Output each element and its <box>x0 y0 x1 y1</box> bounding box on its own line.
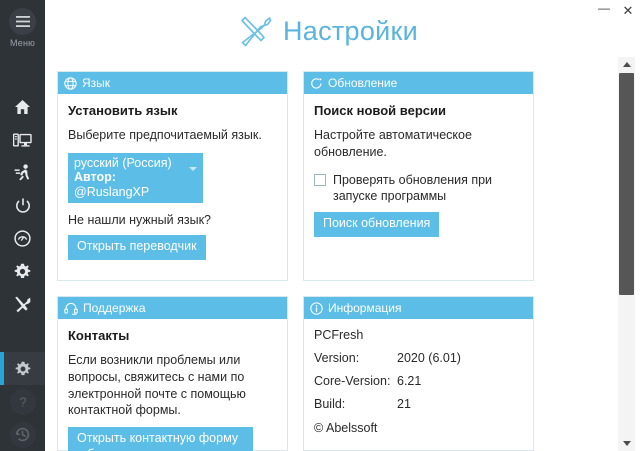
active-indicator <box>0 222 4 255</box>
app-window: Меню <box>0 0 640 451</box>
triangle-up-icon <box>623 62 631 67</box>
info-key: Build: <box>314 397 397 411</box>
product-name: PCFresh <box>314 328 523 342</box>
sidebar-item-computer[interactable] <box>0 123 45 156</box>
language-select[interactable]: русский (Россия) Автор: @RuslangXP <box>68 153 203 203</box>
sidebar-menu-label: Меню <box>10 38 35 48</box>
card-update-header-label: Обновление <box>328 77 397 89</box>
svg-text:?: ? <box>19 394 26 409</box>
scroll-down-button[interactable] <box>618 436 635 451</box>
scrollbar-thumb[interactable] <box>619 73 634 295</box>
card-support-header: Поддержка <box>58 297 287 319</box>
page-header: Настройки <box>45 0 612 62</box>
info-icon <box>310 302 323 315</box>
card-info-body: PCFresh Version: 2020 (6.01) Core-Versio… <box>304 319 533 445</box>
triangle-down-icon <box>623 441 631 446</box>
sidebar-item-settings[interactable] <box>0 352 45 385</box>
card-update-title: Поиск новой версии <box>314 103 523 118</box>
open-contact-form-button[interactable]: Открыть контактную форму в браузере <box>68 427 253 451</box>
info-row-core-version: Core-Version: 6.21 <box>314 374 523 388</box>
card-update-header: Обновление <box>304 72 533 94</box>
vertical-scrollbar[interactable] <box>612 57 640 451</box>
active-indicator <box>0 255 4 288</box>
check-updates-button[interactable]: Поиск обновления <box>314 212 439 237</box>
gauge-icon <box>14 230 31 247</box>
question-icon-glyph: ? <box>15 394 31 410</box>
tools-icon <box>14 296 32 313</box>
active-indicator <box>0 352 4 385</box>
open-translator-button[interactable]: Открыть переводчик <box>68 235 206 260</box>
card-info-header: Информация <box>304 297 533 319</box>
card-support: Поддержка Контакты Если возникли проблем… <box>57 296 288 451</box>
card-info: Информация PCFresh Version: 2020 (6.01) … <box>303 296 534 451</box>
info-value: 6.21 <box>397 374 421 388</box>
sidebar-bottom-nav: ? <box>0 352 45 451</box>
language-select-author-label: Автор: <box>74 170 116 184</box>
info-value: 2020 (6.01) <box>397 351 461 365</box>
language-question: Не нашли нужный язык? <box>68 213 277 227</box>
sidebar-item-utilities[interactable] <box>0 288 45 321</box>
language-select-author-value: @RuslangXP <box>74 185 149 199</box>
autocheck-checkbox[interactable] <box>314 174 326 186</box>
card-support-header-label: Поддержка <box>83 302 146 314</box>
card-language-body: Установить язык Выберите предпочитаемый … <box>58 94 287 270</box>
globe-icon <box>64 77 77 90</box>
info-value: 21 <box>397 397 411 411</box>
card-info-header-label: Информация <box>328 302 401 314</box>
question-icon[interactable]: ? <box>10 389 36 415</box>
hamburger-icon-glyph <box>16 16 30 27</box>
headset-icon <box>64 302 78 315</box>
active-indicator <box>0 90 4 123</box>
history-icon[interactable] <box>10 422 36 448</box>
sidebar-item-help[interactable]: ? <box>0 385 45 418</box>
card-language: Язык Установить язык Выберите предпочита… <box>57 71 288 281</box>
info-row-build: Build: 21 <box>314 397 523 411</box>
gear-icon <box>15 361 31 377</box>
info-key: Core-Version: <box>314 374 397 388</box>
sidebar-item-history[interactable] <box>0 418 45 451</box>
sidebar-nav <box>0 90 45 321</box>
home-icon <box>14 99 31 115</box>
active-indicator <box>0 123 4 156</box>
settings-grid: Язык Установить язык Выберите предпочита… <box>57 71 534 451</box>
hamburger-icon[interactable] <box>9 8 36 35</box>
active-indicator <box>0 288 4 321</box>
info-key: Version: <box>314 351 397 365</box>
card-support-body: Контакты Если возникли проблемы или вопр… <box>58 319 287 451</box>
autocheck-row[interactable]: Проверять обновления при запуске програм… <box>314 172 523 205</box>
sidebar-item-speed[interactable] <box>0 156 45 189</box>
gear-icon <box>14 263 31 280</box>
card-language-title: Установить язык <box>68 103 277 118</box>
wrench-screwdriver-icon <box>239 15 273 47</box>
computer-icon <box>13 132 32 148</box>
info-row-version: Version: 2020 (6.01) <box>314 351 523 365</box>
sidebar: Меню <box>0 0 45 451</box>
refresh-icon <box>310 77 323 90</box>
scroll-up-button[interactable] <box>618 57 635 72</box>
card-update-text: Настройте автоматическое обновление. <box>314 127 523 161</box>
card-support-text: Если возникли проблемы или вопросы, свяж… <box>68 352 277 419</box>
card-language-text: Выберите предпочитаемый язык. <box>68 127 277 144</box>
card-support-title: Контакты <box>68 328 277 343</box>
card-update-body: Поиск новой версии Настройте автоматичес… <box>304 94 533 247</box>
copyright-text: © Abelssoft <box>314 421 523 435</box>
language-select-value: русский (Россия) <box>74 156 185 170</box>
chevron-down-icon[interactable] <box>189 167 197 171</box>
language-select-author: Автор: @RuslangXP <box>74 170 185 199</box>
card-language-header: Язык <box>58 72 287 94</box>
runner-icon <box>14 164 32 181</box>
active-indicator <box>0 156 4 189</box>
sidebar-menu-button[interactable]: Меню <box>0 4 45 56</box>
sidebar-item-benchmark[interactable] <box>0 222 45 255</box>
history-icon-glyph <box>14 426 31 443</box>
sidebar-item-power[interactable] <box>0 189 45 222</box>
content-area: Язык Установить язык Выберите предпочита… <box>45 62 612 451</box>
page-title: Настройки <box>283 16 418 47</box>
autocheck-label: Проверять обновления при запуске програм… <box>333 172 523 205</box>
power-icon <box>15 198 31 214</box>
card-update: Обновление Поиск новой версии Настройте … <box>303 71 534 281</box>
active-indicator <box>0 189 4 222</box>
close-button[interactable]: ✕ <box>620 2 636 18</box>
sidebar-item-home[interactable] <box>0 90 45 123</box>
sidebar-item-tools[interactable] <box>0 255 45 288</box>
card-language-header-label: Язык <box>82 77 110 89</box>
